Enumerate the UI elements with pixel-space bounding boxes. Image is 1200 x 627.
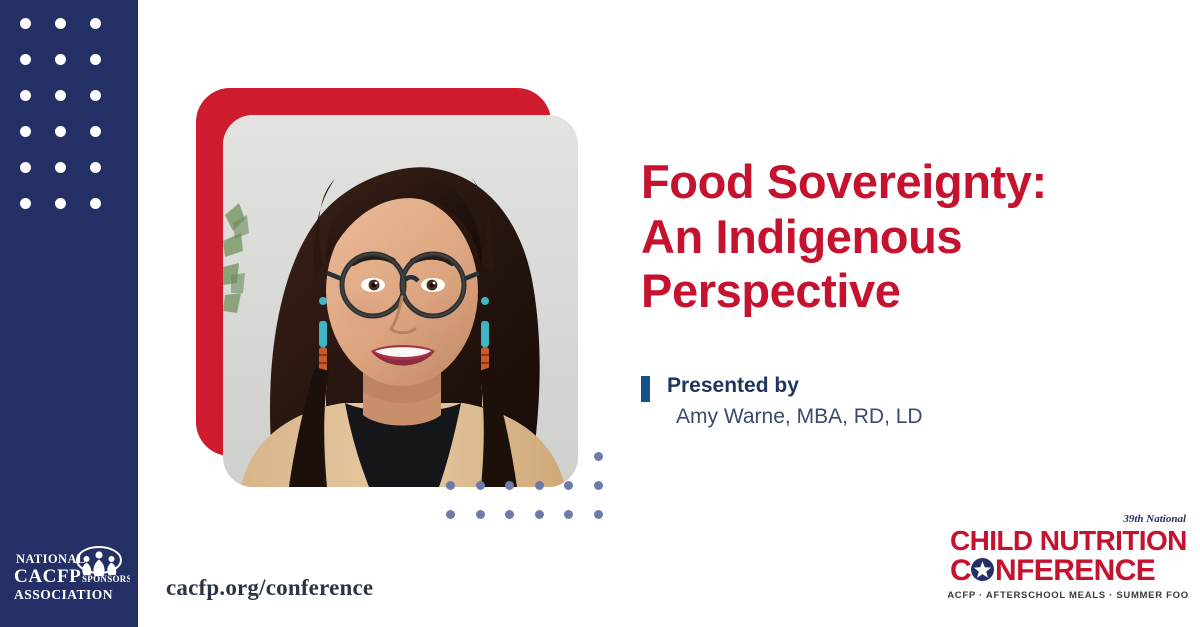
title-line-2: An Indigenous [641,210,962,263]
assoc-sponsors: SPONSORS [82,574,130,584]
conference-tagline: CACFP · AFTERSCHOOL MEALS · SUMMER FOOD [948,590,1188,601]
decorative-dot [594,481,603,490]
decorative-dot [446,481,455,490]
content-column: Food Sovereignty: An Indigenous Perspect… [641,155,1161,430]
assoc-line-2: CACFP [14,566,81,587]
star-in-circle-icon [971,558,994,581]
presenter-block: Presented by Amy Warne, MBA, RD, LD [641,373,1161,431]
decorative-dot [535,510,544,519]
cacfp-association-logo: NATIONAL CACFP SPONSORS ASSOCIATION [8,542,130,604]
sidebar-dot [90,90,101,101]
decorative-dot [535,481,544,490]
conference-edition: 39th National [1122,513,1187,525]
sidebar-dot [20,126,31,137]
decorative-dot-grid [446,452,621,542]
decorative-dot [476,481,485,490]
presenter-name: Amy Warne, MBA, RD, LD [676,403,1161,430]
sidebar-dot [55,126,66,137]
decorative-dot [594,452,603,461]
conference-url[interactable]: cacfp.org/conference [166,575,373,601]
title-line-1: Food Sovereignty: [641,155,1047,208]
sidebar-dot [55,18,66,29]
assoc-line-1: NATIONAL [16,552,86,566]
sidebar-dot [20,18,31,29]
sidebar-dot [90,126,101,137]
sidebar-dot [20,54,31,65]
sidebar-dot-pattern [0,0,138,240]
sidebar-dot [90,162,101,173]
sidebar-dot [55,90,66,101]
sidebar-dot [90,198,101,209]
decorative-dot [476,510,485,519]
conference-line-2-before: C [950,554,971,587]
conference-line-1: CHILD NUTRITION [950,525,1187,556]
decorative-dot [505,481,514,490]
sidebar-dot [55,54,66,65]
decorative-sidebar [0,0,138,627]
decorative-dot [564,510,573,519]
page-title: Food Sovereignty: An Indigenous Perspect… [641,155,1161,319]
presented-by-label: Presented by [667,373,1161,399]
conference-line-2-after: NFERENCE [995,554,1155,587]
sidebar-dot [90,18,101,29]
decorative-dot [446,510,455,519]
sidebar-dot [20,90,31,101]
sidebar-dot [55,162,66,173]
speaker-photo-block [196,88,600,500]
sidebar-dot [90,54,101,65]
decorative-dot [564,481,573,490]
sidebar-dot [55,198,66,209]
child-nutrition-conference-logo: 39th National CHILD NUTRITION C NFERENCE… [948,508,1188,608]
title-line-3: Perspective [641,264,901,317]
sidebar-dot [20,162,31,173]
sidebar-dot [20,198,31,209]
speaker-photo [223,115,578,487]
decorative-dot [505,510,514,519]
assoc-line-3: ASSOCIATION [14,587,113,602]
presenter-accent-bar [641,376,650,402]
decorative-dot [594,510,603,519]
